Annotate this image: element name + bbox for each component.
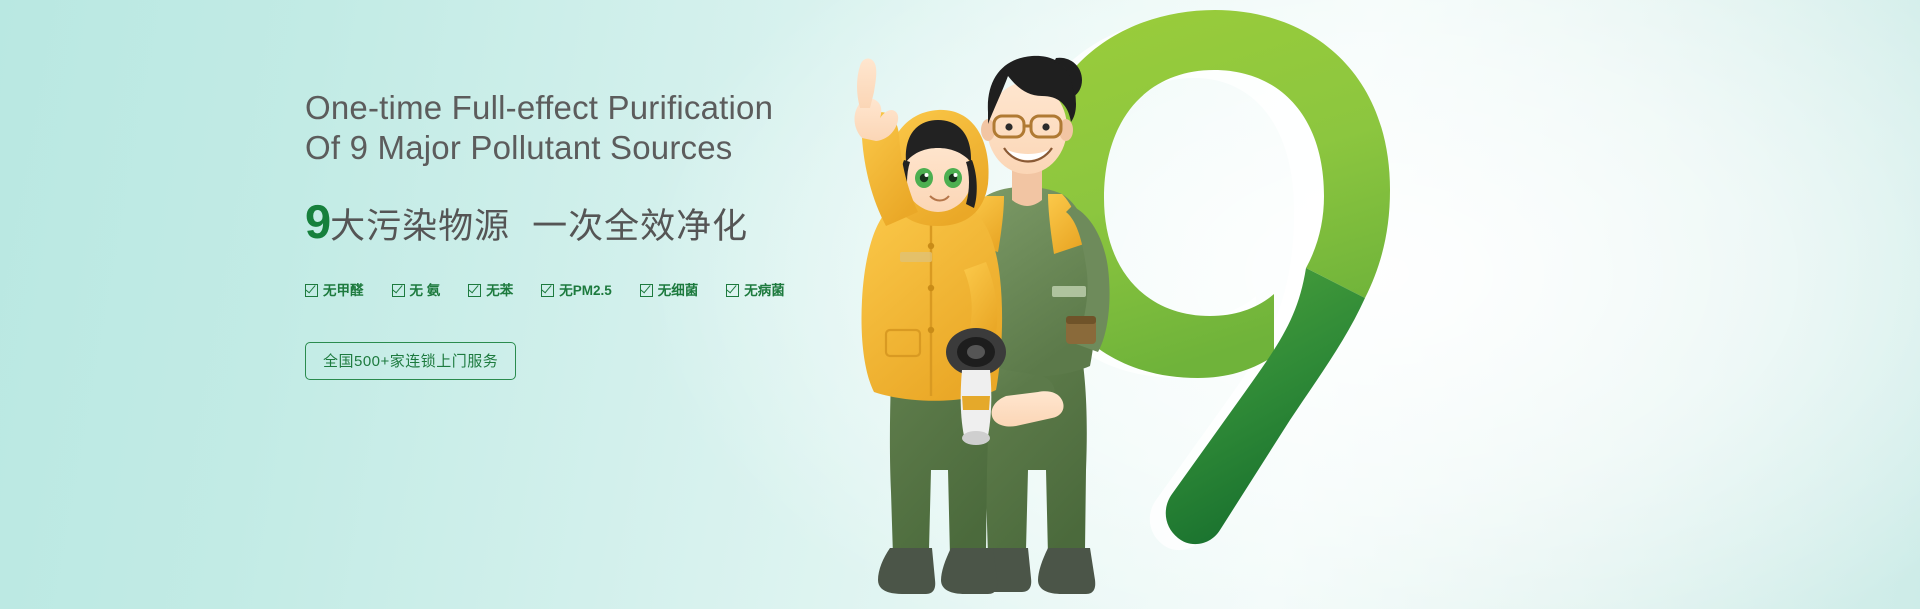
checkbox-check-icon xyxy=(640,284,653,297)
feature-label: 无病菌 xyxy=(744,284,785,298)
feature-label: 无 氨 xyxy=(410,284,441,298)
feature-badge-pm25: 无PM2.5 xyxy=(541,284,612,298)
checkbox-check-icon xyxy=(392,284,405,297)
feature-badge-benzene: 无苯 xyxy=(468,284,513,298)
chinese-headline-part2: 一次全效净化 xyxy=(532,209,748,244)
banner-illustration xyxy=(790,0,1430,609)
feature-label: 无细菌 xyxy=(658,284,699,298)
feature-badge-ammonia: 无 氨 xyxy=(392,284,441,298)
chinese-headline-number: 9 xyxy=(305,198,330,245)
checkbox-check-icon xyxy=(305,284,318,297)
checkbox-check-icon xyxy=(468,284,481,297)
chinese-headline-part1: 大污染物源 xyxy=(330,209,510,244)
feature-badge-virus: 无病菌 xyxy=(726,284,785,298)
checkbox-check-icon xyxy=(726,284,739,297)
feature-badge-bacteria: 无细菌 xyxy=(640,284,699,298)
feature-label: 无甲醛 xyxy=(323,284,364,298)
checkbox-check-icon xyxy=(541,284,554,297)
feature-label: 无苯 xyxy=(486,284,513,298)
feature-badge-formaldehyde: 无甲醛 xyxy=(305,284,364,298)
nationwide-service-button[interactable]: 全国500+家连锁上门服务 xyxy=(305,342,516,380)
feature-label: 无PM2.5 xyxy=(559,284,612,298)
child-figure xyxy=(855,59,1003,594)
promo-banner: One-time Full-effect Purification Of 9 M… xyxy=(0,0,1920,609)
